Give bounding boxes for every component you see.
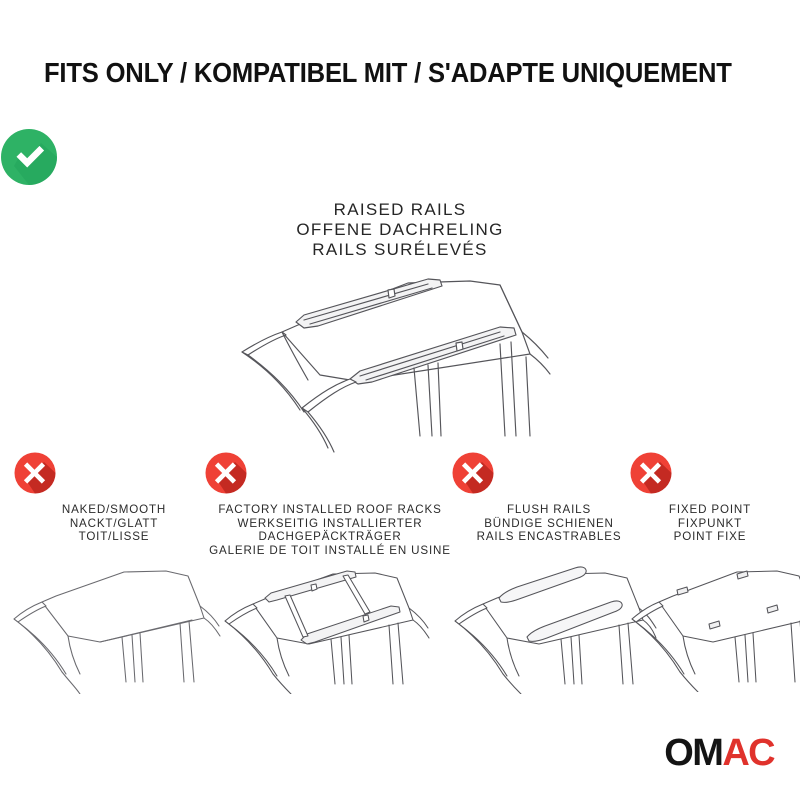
- incompatible-item-fixed-point: FIXED POINT FIXPUNKT POINT FIXE: [630, 452, 790, 544]
- compatible-section: RAISED RAILS OFFENE DACHRELING RAILS SUR…: [0, 128, 800, 260]
- incompatible-label-naked-smooth: NAKED/SMOOTH NACKT/GLATT TOIT/LISSE: [14, 503, 214, 544]
- omac-logo-red-part: AC: [722, 732, 774, 774]
- incompatible-item-naked-smooth: NAKED/SMOOTH NACKT/GLATT TOIT/LISSE: [14, 452, 214, 544]
- label-line-de: BÜNDIGE SCHIENEN: [452, 517, 646, 531]
- car-roof-factory-racks-illustration: [215, 554, 435, 694]
- label-line-fr: RAILS ENCASTRABLES: [452, 530, 646, 544]
- label-line-de: FIXPUNKT: [630, 517, 790, 531]
- incompatible-label-factory-racks: FACTORY INSTALLED ROOF RACKS WERKSEITIG …: [205, 503, 455, 557]
- car-roof-naked-illustration: [4, 554, 224, 694]
- car-roof-raised-rails-illustration: [170, 276, 640, 456]
- incompatible-item-factory-racks: FACTORY INSTALLED ROOF RACKS WERKSEITIG …: [205, 452, 455, 557]
- omac-logo-dark-part: OM: [664, 732, 722, 774]
- incompatible-label-flush-rails: FLUSH RAILS BÜNDIGE SCHIENEN RAILS ENCAS…: [452, 503, 646, 544]
- label-line-de-1: WERKSEITIG INSTALLIERTER: [205, 517, 455, 531]
- incompatible-section: NAKED/SMOOTH NACKT/GLATT TOIT/LISSE: [0, 452, 800, 692]
- label-line-en: FACTORY INSTALLED ROOF RACKS: [205, 503, 455, 517]
- x-circle-icon: [205, 452, 455, 494]
- compatible-label-line-fr: RAILS SURÉLEVÉS: [0, 240, 800, 260]
- x-circle-icon: [630, 452, 790, 494]
- label-line-de: NACKT/GLATT: [14, 517, 214, 531]
- omac-logo: OMAC: [664, 734, 774, 772]
- label-line-en: FIXED POINT: [630, 503, 790, 517]
- x-circle-icon: [14, 452, 214, 494]
- label-line-en: FLUSH RAILS: [452, 503, 646, 517]
- label-line-en: NAKED/SMOOTH: [14, 503, 214, 517]
- incompatible-item-flush-rails: FLUSH RAILS BÜNDIGE SCHIENEN RAILS ENCAS…: [452, 452, 646, 544]
- compatible-label: RAISED RAILS OFFENE DACHRELING RAILS SUR…: [0, 200, 800, 260]
- label-line-de-2: DACHGEPÄCKTRÄGER: [205, 530, 455, 544]
- page-title: FITS ONLY / KOMPATIBEL MIT / S'ADAPTE UN…: [44, 56, 714, 90]
- label-line-fr: TOIT/LISSE: [14, 530, 214, 544]
- infographic-canvas: FITS ONLY / KOMPATIBEL MIT / S'ADAPTE UN…: [0, 0, 800, 800]
- incompatible-label-fixed-point: FIXED POINT FIXPUNKT POINT FIXE: [630, 503, 790, 544]
- label-line-fr: POINT FIXE: [630, 530, 790, 544]
- compatible-label-line-en: RAISED RAILS: [0, 200, 800, 220]
- compatible-label-line-de: OFFENE DACHRELING: [0, 220, 800, 240]
- check-circle-icon: [0, 128, 800, 186]
- car-roof-fixed-point-illustration: [625, 552, 800, 692]
- x-circle-icon: [452, 452, 646, 494]
